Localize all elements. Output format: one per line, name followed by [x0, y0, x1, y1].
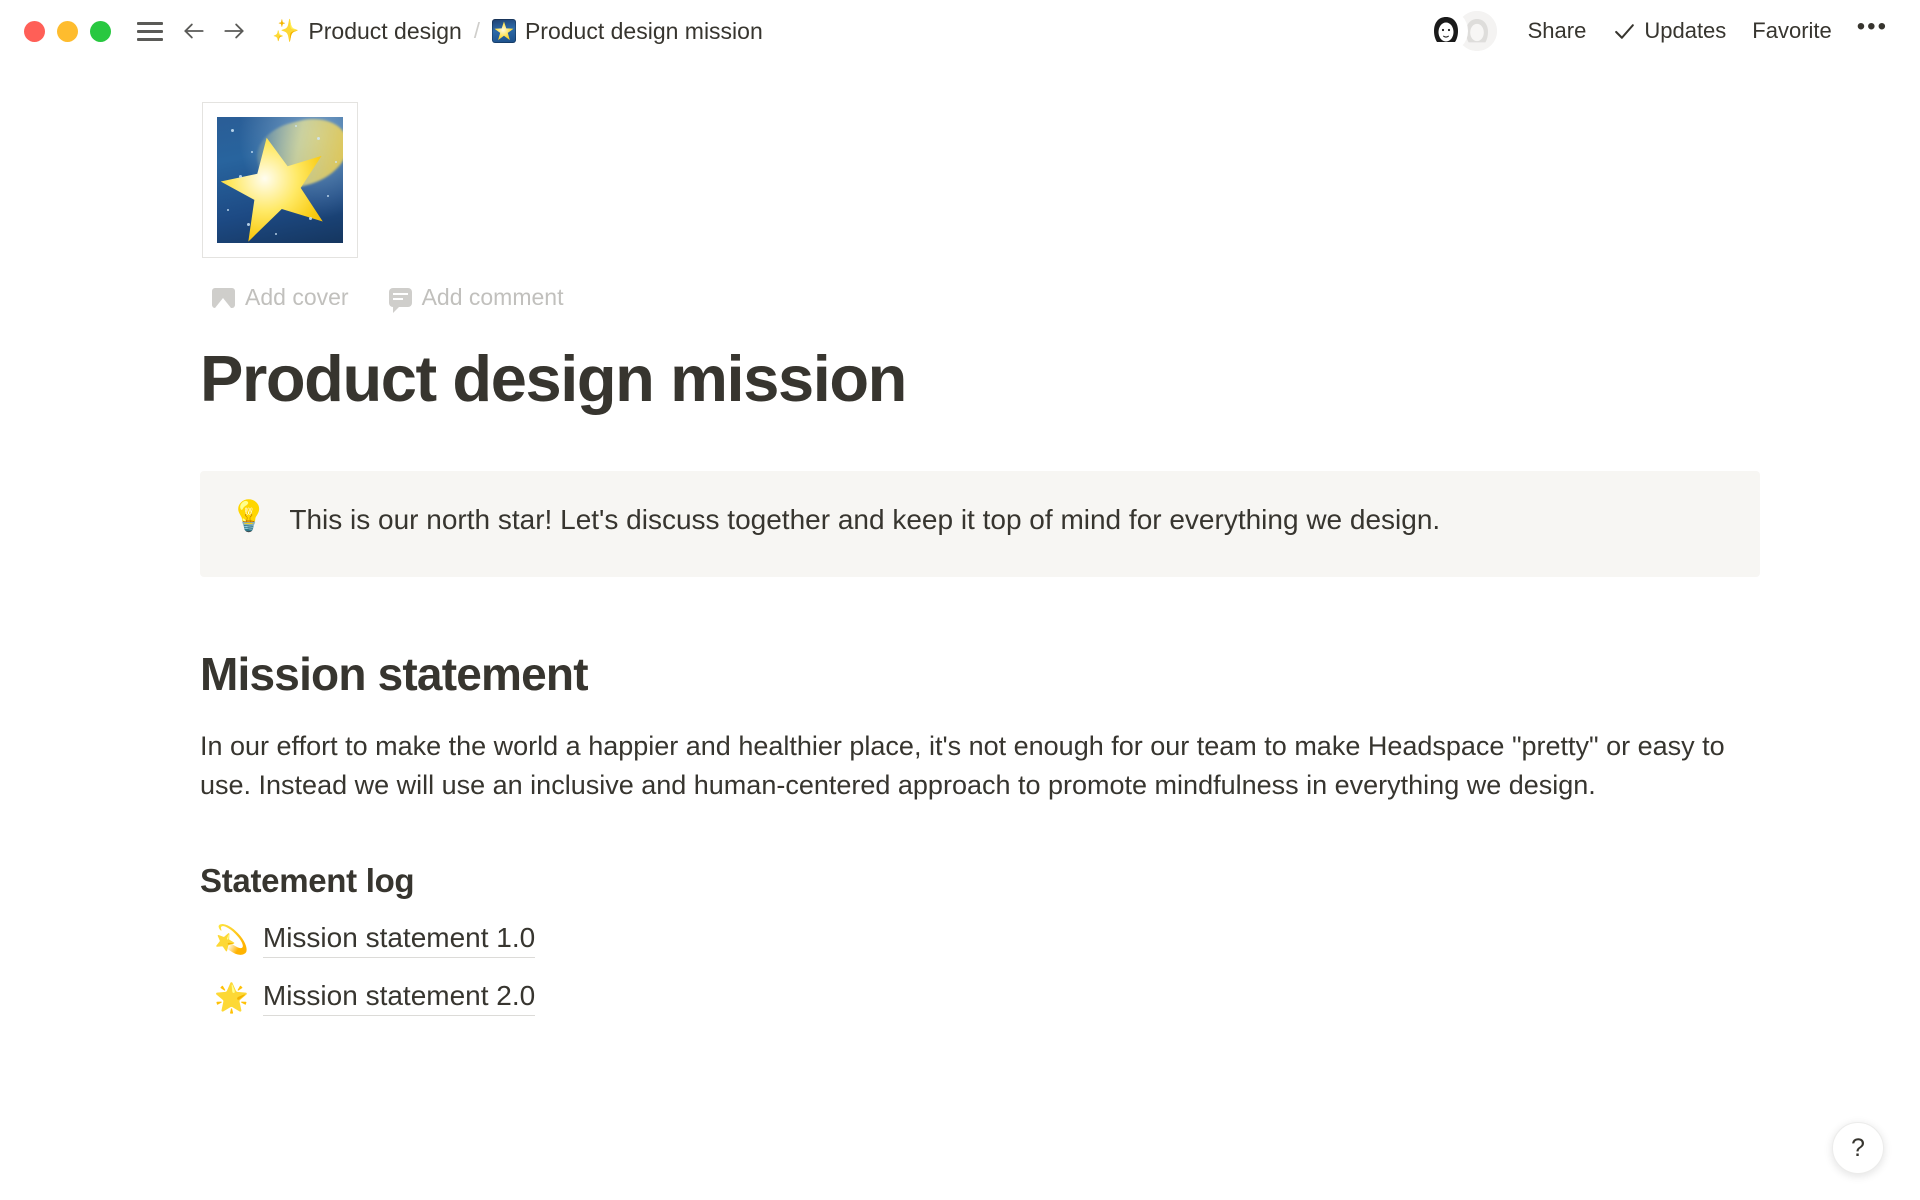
breadcrumb: ✨ Product design / Product design missio…	[265, 14, 770, 49]
traffic-lights	[24, 21, 111, 42]
breadcrumb-item-product-design[interactable]: ✨ Product design	[265, 14, 469, 49]
image-icon	[212, 288, 235, 308]
arrow-right-icon	[221, 16, 247, 46]
sparkles-icon: ✨	[272, 20, 299, 42]
window-close-button[interactable]	[24, 21, 45, 42]
page-meta-actions: Add cover Add comment	[206, 280, 1770, 315]
callout-text: This is our north star! Let's discuss to…	[289, 499, 1440, 539]
help-button[interactable]: ?	[1832, 1122, 1884, 1174]
arrow-left-icon	[181, 16, 207, 46]
glowing-star-icon: 🌟	[214, 984, 249, 1012]
avatar-face-icon	[1426, 11, 1466, 51]
more-icon: •••	[1857, 21, 1888, 33]
updates-button[interactable]: Updates	[1601, 11, 1737, 51]
favorite-label: Favorite	[1752, 18, 1831, 44]
add-cover-button[interactable]: Add cover	[206, 280, 355, 315]
light-bulb-icon: 💡	[230, 499, 267, 535]
window-titlebar: ✨ Product design / Product design missio…	[0, 0, 1920, 62]
window-minimize-button[interactable]	[57, 21, 78, 42]
add-comment-label: Add comment	[422, 284, 564, 311]
collaborator-avatars	[1424, 9, 1499, 53]
hamburger-icon	[137, 22, 163, 41]
page-content: Add cover Add comment Product design mis…	[0, 62, 1920, 1016]
shooting-star-icon	[492, 19, 516, 43]
add-cover-label: Add cover	[245, 284, 349, 311]
navigation-arrows	[175, 12, 253, 50]
favorite-button[interactable]: Favorite	[1741, 11, 1842, 51]
share-button[interactable]: Share	[1517, 11, 1598, 51]
callout-block[interactable]: 💡 This is our north star! Let's discuss …	[200, 471, 1760, 577]
breadcrumb-separator: /	[469, 18, 485, 44]
page-title[interactable]: Product design mission	[200, 343, 1770, 415]
more-options-button[interactable]: •••	[1847, 17, 1898, 45]
breadcrumb-item-product-design-mission[interactable]: Product design mission	[485, 14, 770, 49]
comment-bubble-icon	[389, 288, 412, 307]
breadcrumb-label: Product design	[308, 18, 461, 45]
page-icon[interactable]	[202, 102, 358, 258]
breadcrumb-label: Product design mission	[525, 18, 763, 45]
forward-button[interactable]	[215, 12, 253, 50]
statement-log-link-2[interactable]: 🌟 Mission statement 2.0	[214, 980, 535, 1016]
section-heading-statement-log[interactable]: Statement log	[200, 862, 1770, 900]
check-icon	[1612, 19, 1637, 44]
add-comment-button[interactable]: Add comment	[383, 280, 570, 315]
mission-statement-paragraph[interactable]: In our effort to make the world a happie…	[200, 727, 1745, 807]
avatar[interactable]	[1424, 9, 1468, 53]
dizzy-star-icon: 💫	[214, 926, 249, 954]
sidebar-toggle-button[interactable]	[131, 12, 169, 50]
back-button[interactable]	[175, 12, 213, 50]
statement-log-link-1[interactable]: 💫 Mission statement 1.0	[214, 922, 535, 958]
window-maximize-button[interactable]	[90, 21, 111, 42]
statement-log-link-label: Mission statement 1.0	[263, 922, 535, 958]
share-label: Share	[1528, 18, 1587, 44]
question-mark-icon: ?	[1851, 1134, 1865, 1163]
shooting-star-page-icon	[217, 117, 343, 243]
statement-log-link-label: Mission statement 2.0	[263, 980, 535, 1016]
section-heading-mission-statement[interactable]: Mission statement	[200, 647, 1770, 701]
topbar-actions: Share Updates Favorite •••	[1424, 9, 1898, 53]
updates-label: Updates	[1644, 18, 1726, 44]
